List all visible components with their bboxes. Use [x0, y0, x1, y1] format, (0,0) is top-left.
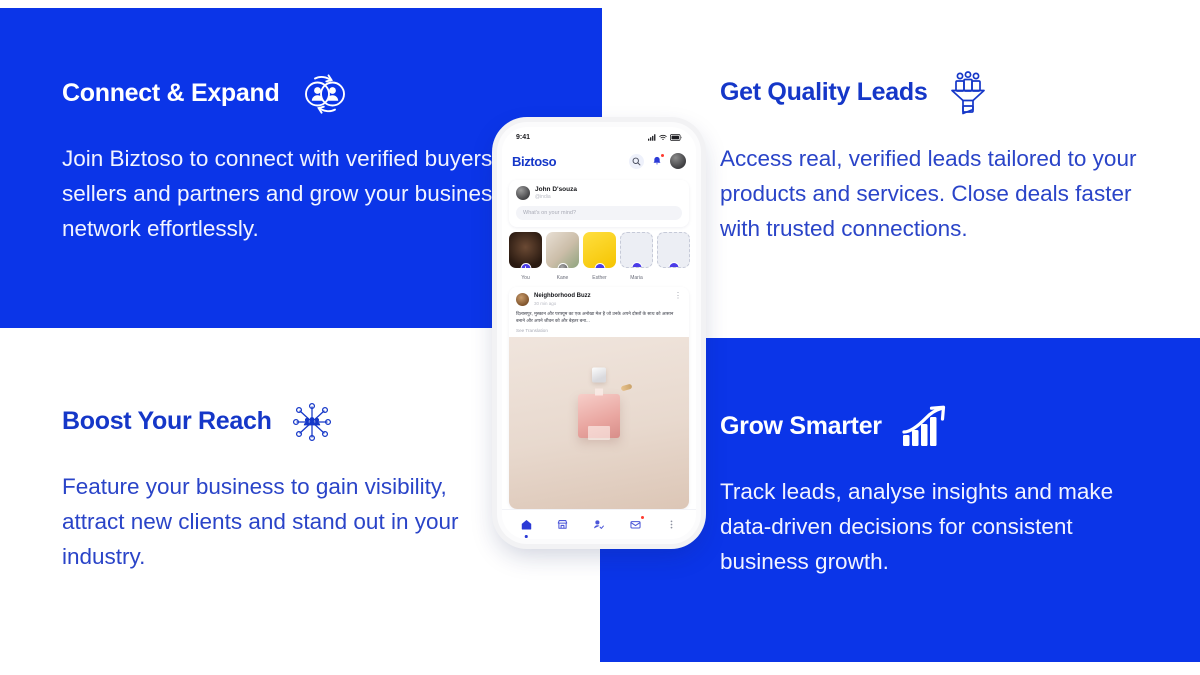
panel-body-text: Feature your business to gain visibility… — [62, 470, 502, 575]
story-item[interactable] — [657, 232, 690, 281]
notification-badge — [661, 154, 665, 158]
panel-body-text: Join Biztoso to connect with verified bu… — [62, 142, 532, 247]
avatar — [516, 293, 529, 306]
post-text: दिलासपुर, मुस्कान और परफ्यूम का एक अनोखा… — [509, 307, 689, 325]
avatar — [516, 186, 530, 200]
bottle-cap — [592, 367, 606, 382]
story-item[interactable]: Maria — [620, 232, 653, 281]
active-indicator-dot — [525, 535, 528, 538]
panel-body-text: Access real, verified leads tailored to … — [720, 142, 1160, 247]
story-item[interactable]: Esther — [583, 232, 616, 281]
nav-inbox[interactable] — [626, 516, 644, 534]
story-avatar-badge — [668, 262, 679, 268]
profile-avatar[interactable] — [670, 153, 686, 169]
story-item[interactable]: Kane — [546, 232, 579, 281]
wifi-icon — [659, 134, 667, 141]
feature-panel-grow-smarter: Grow Smarter Track leads, analyse insigh… — [720, 405, 1160, 580]
status-bar-time: 9:41 — [516, 134, 530, 141]
bottle-label — [588, 426, 610, 440]
search-icon[interactable] — [629, 154, 644, 169]
composer-input[interactable]: What's on your mind? — [516, 206, 682, 220]
bottom-navigation[interactable] — [502, 509, 696, 539]
more-vertical-icon[interactable]: ⋮ — [674, 293, 682, 299]
phone-screen: 9:41 — [502, 127, 696, 539]
panel-header: Connect & Expand — [62, 72, 532, 116]
nav-marketplace[interactable] — [554, 516, 572, 534]
panel-title: Boost Your Reach — [62, 408, 272, 436]
status-bar-icons — [648, 134, 682, 141]
feature-panel-connect-expand: Connect & Expand Join Biztoso to connect… — [62, 72, 532, 247]
story-thumbnail — [583, 232, 616, 268]
connect-people-cycle-icon — [297, 72, 353, 116]
bell-icon[interactable] — [649, 154, 664, 169]
battery-icon — [670, 134, 682, 141]
panel-header: Get Quality Leads — [720, 70, 1160, 116]
story-item[interactable]: + You — [509, 232, 542, 281]
growth-chart-arrow-icon — [900, 405, 948, 449]
add-story-badge[interactable]: + — [520, 263, 531, 268]
story-thumbnail: + — [509, 232, 542, 268]
story-thumbnail — [546, 232, 579, 268]
story-label: You — [509, 275, 542, 281]
panel-title: Grow Smarter — [720, 413, 882, 441]
post-header: Neighborhood Buzz 30 min ago ⋮ — [509, 287, 689, 307]
feature-panel-get-quality-leads: Get Quality Leads Access real, verified … — [720, 70, 1160, 247]
post-author: Neighborhood Buzz — [534, 293, 669, 301]
panel-header: Boost Your Reach — [62, 400, 502, 444]
story-label: Kane — [546, 275, 579, 281]
panel-body-text: Track leads, analyse insights and make d… — [720, 475, 1160, 580]
nav-connections[interactable] — [590, 516, 608, 534]
bottle-bow — [620, 384, 632, 392]
feed-post-card: Neighborhood Buzz 30 min ago ⋮ दिलासपुर,… — [509, 287, 689, 509]
panel-title: Get Quality Leads — [720, 79, 927, 107]
cellular-signal-icon — [648, 134, 656, 141]
see-translation-link[interactable]: See Translation — [509, 325, 689, 337]
story-label: Esther — [583, 275, 616, 281]
composer-user-name: John D'souza — [535, 186, 577, 194]
nav-home[interactable] — [517, 516, 535, 534]
post-meta: Neighborhood Buzz 30 min ago — [534, 293, 669, 307]
bottle-neck — [595, 388, 603, 395]
nav-menu[interactable] — [663, 516, 681, 534]
feature-panel-boost-your-reach: Boost Your Reach Feature your business t… — [62, 400, 502, 575]
story-avatar-badge — [631, 262, 642, 268]
perfume-bottle-photo[interactable] — [509, 337, 689, 509]
lead-funnel-people-icon — [945, 70, 991, 116]
app-header: Biztoso — [502, 145, 696, 177]
story-avatar-badge — [594, 263, 605, 268]
network-nodes-icon — [290, 400, 334, 444]
phone-mockup: 9:41 — [497, 122, 701, 544]
composer-user-handle: @india — [535, 194, 577, 201]
composer-user: John D'souza @india — [516, 186, 682, 200]
story-thumbnail — [620, 232, 653, 268]
inbox-badge — [641, 516, 645, 520]
stories-row[interactable]: + You Kane Esther Maria — [502, 227, 696, 283]
panel-header: Grow Smarter — [720, 405, 1160, 449]
story-thumbnail — [657, 232, 690, 268]
status-bar: 9:41 — [502, 127, 696, 145]
app-logo: Biztoso — [512, 154, 624, 169]
panel-title: Connect & Expand — [62, 80, 279, 108]
story-label: Maria — [620, 275, 653, 281]
story-avatar-badge — [557, 263, 568, 268]
post-composer-card: John D'souza @india What's on your mind? — [509, 180, 689, 227]
